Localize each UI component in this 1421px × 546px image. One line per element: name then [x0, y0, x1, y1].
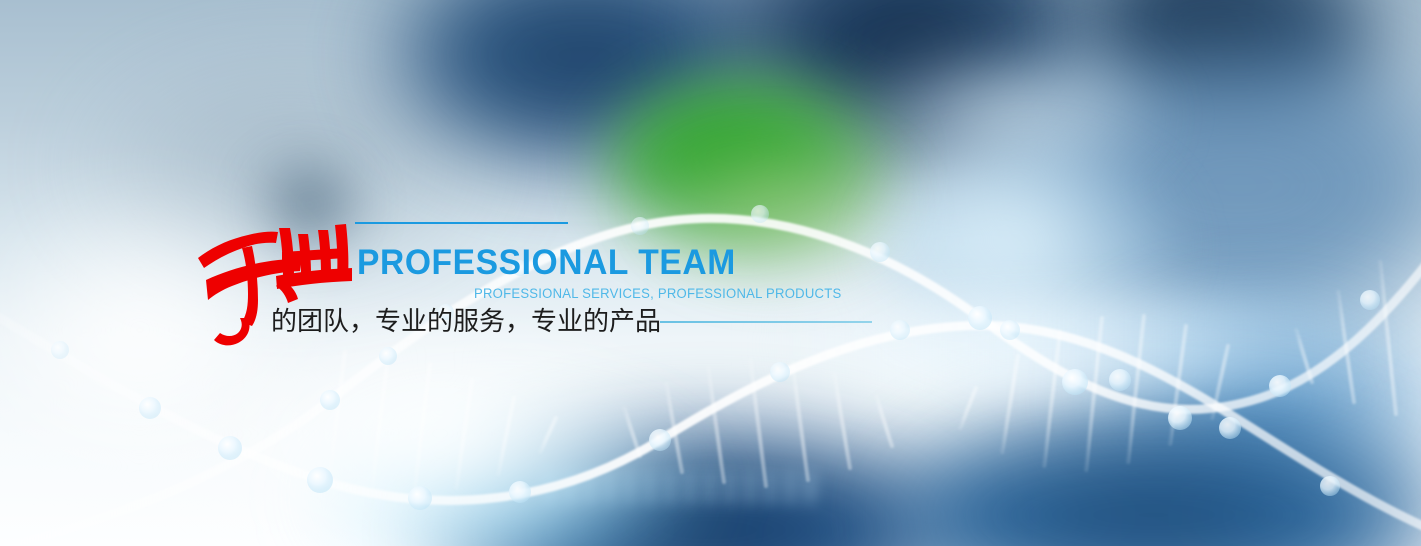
- professional-team-banner: PROFESSIONAL TEAM PROFESSIONAL SERVICES,…: [0, 0, 1421, 546]
- banner-subheadline: PROFESSIONAL SERVICES, PROFESSIONAL PROD…: [474, 285, 841, 303]
- banner-content: PROFESSIONAL TEAM PROFESSIONAL SERVICES,…: [0, 0, 1421, 546]
- banner-chinese-tagline: 的团队，专业的服务，专业的产品: [271, 305, 661, 339]
- decorative-rule-bottom: [660, 321, 872, 323]
- decorative-rule-top: [355, 222, 568, 224]
- banner-headline: PROFESSIONAL TEAM: [357, 243, 736, 283]
